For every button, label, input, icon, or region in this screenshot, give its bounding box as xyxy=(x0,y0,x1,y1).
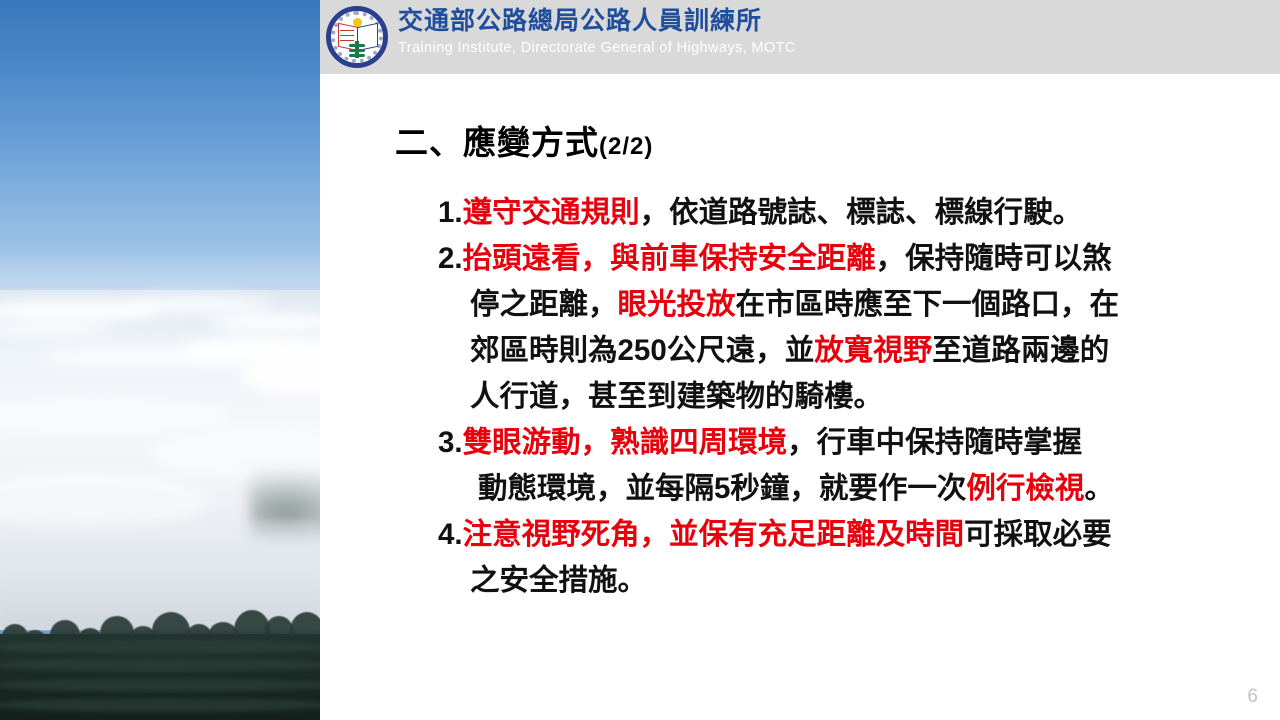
highlighted-text: 注意視野死角，並保有充足距離及時間 xyxy=(463,518,965,551)
body-text: 在市區時應至下一個路口，在 xyxy=(736,288,1120,321)
highlighted-text: 放寬視野 xyxy=(814,334,932,367)
body-text: 2. xyxy=(438,242,463,275)
body-text: 至道路兩邊的 xyxy=(932,334,1109,367)
slide-heading-suffix: (2/2) xyxy=(599,133,653,160)
page-number: 6 xyxy=(1247,686,1258,708)
body-text-line: 2.抬頭遠看，與前車保持安全距離，保持隨時可以煞 xyxy=(438,236,1228,282)
highlighted-text: 遵守交通規則 xyxy=(463,196,640,229)
slide-heading-main: 二、應變方式 xyxy=(395,124,599,161)
photo-treeline xyxy=(0,600,320,720)
body-text-line: 郊區時則為250公尺遠，並放寬視野至道路兩邊的 xyxy=(438,328,1228,374)
slide-photo-sea-of-clouds xyxy=(0,0,320,720)
slide-content: 二、應變方式(2/2) 1.遵守交通規則，依道路號誌、標誌、標線行駛。2.抬頭遠… xyxy=(320,74,1280,720)
body-text: 之安全措施。 xyxy=(470,564,647,597)
body-text: ，依道路號誌、標誌、標線行駛。 xyxy=(640,196,1083,229)
body-text: 動態環境，並每隔5秒鐘，就要作一次 xyxy=(478,472,966,505)
highlighted-text: 雙眼游動，熟識四周環境 xyxy=(463,426,788,459)
institute-title-en: Training Institute, Directorate General … xyxy=(398,39,958,58)
presentation-slide: 交通部公路總局公路人員訓練所 Training Institute, Direc… xyxy=(0,0,1280,720)
body-text: 郊區時則為250公尺遠，並 xyxy=(470,334,814,367)
tea-plantation-hedges xyxy=(0,634,320,720)
body-text: 。 xyxy=(1084,472,1114,505)
logo-leaf xyxy=(349,54,365,57)
slide-heading: 二、應變方式(2/2) xyxy=(395,116,653,164)
body-text: 3. xyxy=(438,426,463,459)
body-text-line: 之安全措施。 xyxy=(438,558,1228,604)
logo-leaf xyxy=(349,49,365,52)
header-text-block: 交通部公路總局公路人員訓練所 Training Institute, Direc… xyxy=(398,4,958,58)
body-text-line: 停之距離，眼光投放在市區時應至下一個路口，在 xyxy=(438,282,1228,328)
highlighted-text: 抬頭遠看，與前車保持安全距離 xyxy=(463,242,876,275)
cloud-wisp xyxy=(40,345,240,369)
body-text-line: 動態環境，並每隔5秒鐘，就要作一次例行檢視。 xyxy=(438,466,1228,512)
slide-body-list: 1.遵守交通規則，依道路號誌、標誌、標線行駛。2.抬頭遠看，與前車保持安全距離，… xyxy=(438,190,1228,604)
body-text-line: 1.遵守交通規則，依道路號誌、標誌、標線行駛。 xyxy=(438,190,1228,236)
body-text-line: 3.雙眼游動，熟識四周環境，行車中保持隨時掌握 xyxy=(438,420,1228,466)
body-text: ，保持隨時可以煞 xyxy=(876,242,1112,275)
highlighted-text: 例行檢視 xyxy=(966,472,1084,505)
body-text: 4. xyxy=(438,518,463,551)
body-text: 停之距離， xyxy=(470,288,618,321)
institute-logo-icon xyxy=(326,6,388,68)
highlighted-text: 眼光投放 xyxy=(618,288,736,321)
body-text: 人行道，甚至到建築物的騎樓。 xyxy=(470,380,883,413)
body-text-line: 人行道，甚至到建築物的騎樓。 xyxy=(438,374,1228,420)
cloud-wisp xyxy=(120,296,270,314)
logo-leaf xyxy=(349,44,365,47)
body-text: 1. xyxy=(438,196,463,229)
body-text-line: 4.注意視野死角，並保有充足距離及時間可採取必要 xyxy=(438,512,1228,558)
body-text: 可採取必要 xyxy=(964,518,1112,551)
institute-title-zh: 交通部公路總局公路人員訓練所 xyxy=(398,4,958,38)
body-text: ，行車中保持隨時掌握 xyxy=(787,426,1082,459)
